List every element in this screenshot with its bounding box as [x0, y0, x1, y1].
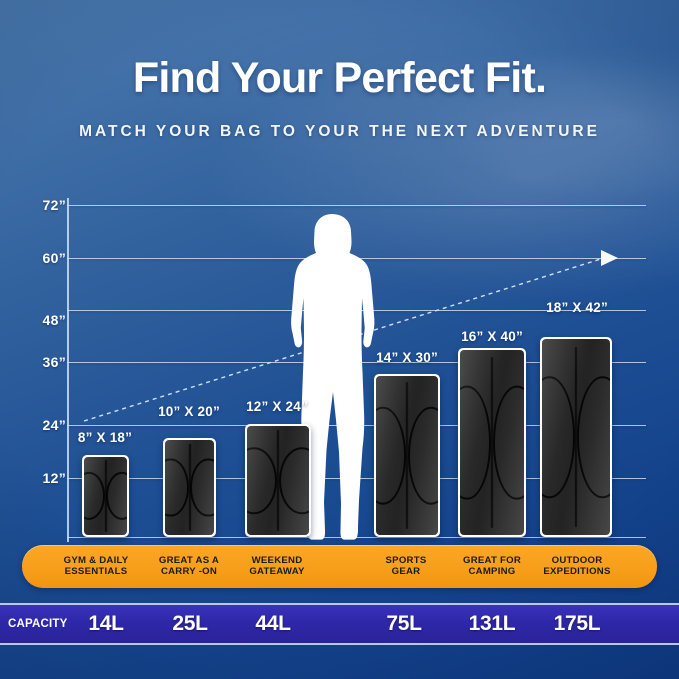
use-case-label: OUTDOOR EXPEDITIONS [543, 555, 610, 579]
use-case-label: SPORTS GEAR [386, 555, 427, 579]
use-case-label: GREAT FOR CAMPING [463, 555, 521, 579]
capacity-value: 14L [88, 612, 123, 636]
y-axis-line [67, 198, 69, 542]
y-axis-tick-label: 48” [43, 312, 66, 328]
bag-body [247, 426, 309, 535]
y-axis-tick-label: 60” [43, 250, 66, 266]
bag-bar[interactable] [374, 374, 440, 537]
y-axis-tick-label: 12” [43, 470, 66, 486]
bag-bar[interactable] [458, 348, 526, 537]
bag-gloss [84, 457, 127, 535]
capacity-value: 75L [386, 612, 421, 636]
bag-body [376, 376, 438, 535]
capacity-value: 175L [554, 612, 601, 636]
bag-gloss [376, 376, 438, 535]
bag-body [460, 350, 524, 535]
use-case-label: GREAT AS A CARRY -ON [159, 555, 219, 579]
bag-bar[interactable] [163, 438, 216, 537]
use-case-label: WEEKEND GATEAWAY [249, 555, 304, 579]
bag-gloss [165, 440, 214, 535]
bag-gloss [460, 350, 524, 535]
bag-bar[interactable] [82, 455, 129, 537]
bag-body [165, 440, 214, 535]
y-axis-tick-label: 24” [43, 417, 66, 433]
bag-bar[interactable] [245, 424, 311, 537]
bag-dimension-label: 18” X 42” [546, 300, 608, 315]
bag-dimension-label: 16” X 40” [461, 329, 523, 344]
use-case-bar: GYM & DAILY ESSENTIALSGREAT AS A CARRY -… [22, 545, 657, 588]
bag-dimension-label: 8” X 18” [78, 430, 132, 445]
capacity-value: 131L [469, 612, 516, 636]
capacity-bar: CAPACITY 14L25L44L75L131L175L [0, 603, 679, 645]
capacity-value: 44L [255, 612, 290, 636]
use-case-label: GYM & DAILY ESSENTIALS [64, 555, 129, 579]
capacity-label: CAPACITY [8, 618, 68, 630]
capacity-value: 25L [172, 612, 207, 636]
bag-body [542, 339, 610, 535]
bag-dimension-label: 12” X 24” [246, 399, 308, 414]
y-axis-tick-label: 72” [43, 197, 66, 213]
grid-line [67, 205, 646, 206]
bag-gloss [247, 426, 309, 535]
bag-body [84, 457, 127, 535]
bag-dimension-label: 14” X 30” [376, 350, 438, 365]
y-axis-tick-label: 36” [43, 354, 66, 370]
bag-bar[interactable] [540, 337, 612, 537]
bag-gloss [542, 339, 610, 535]
bag-dimension-label: 10” X 20” [158, 404, 220, 419]
